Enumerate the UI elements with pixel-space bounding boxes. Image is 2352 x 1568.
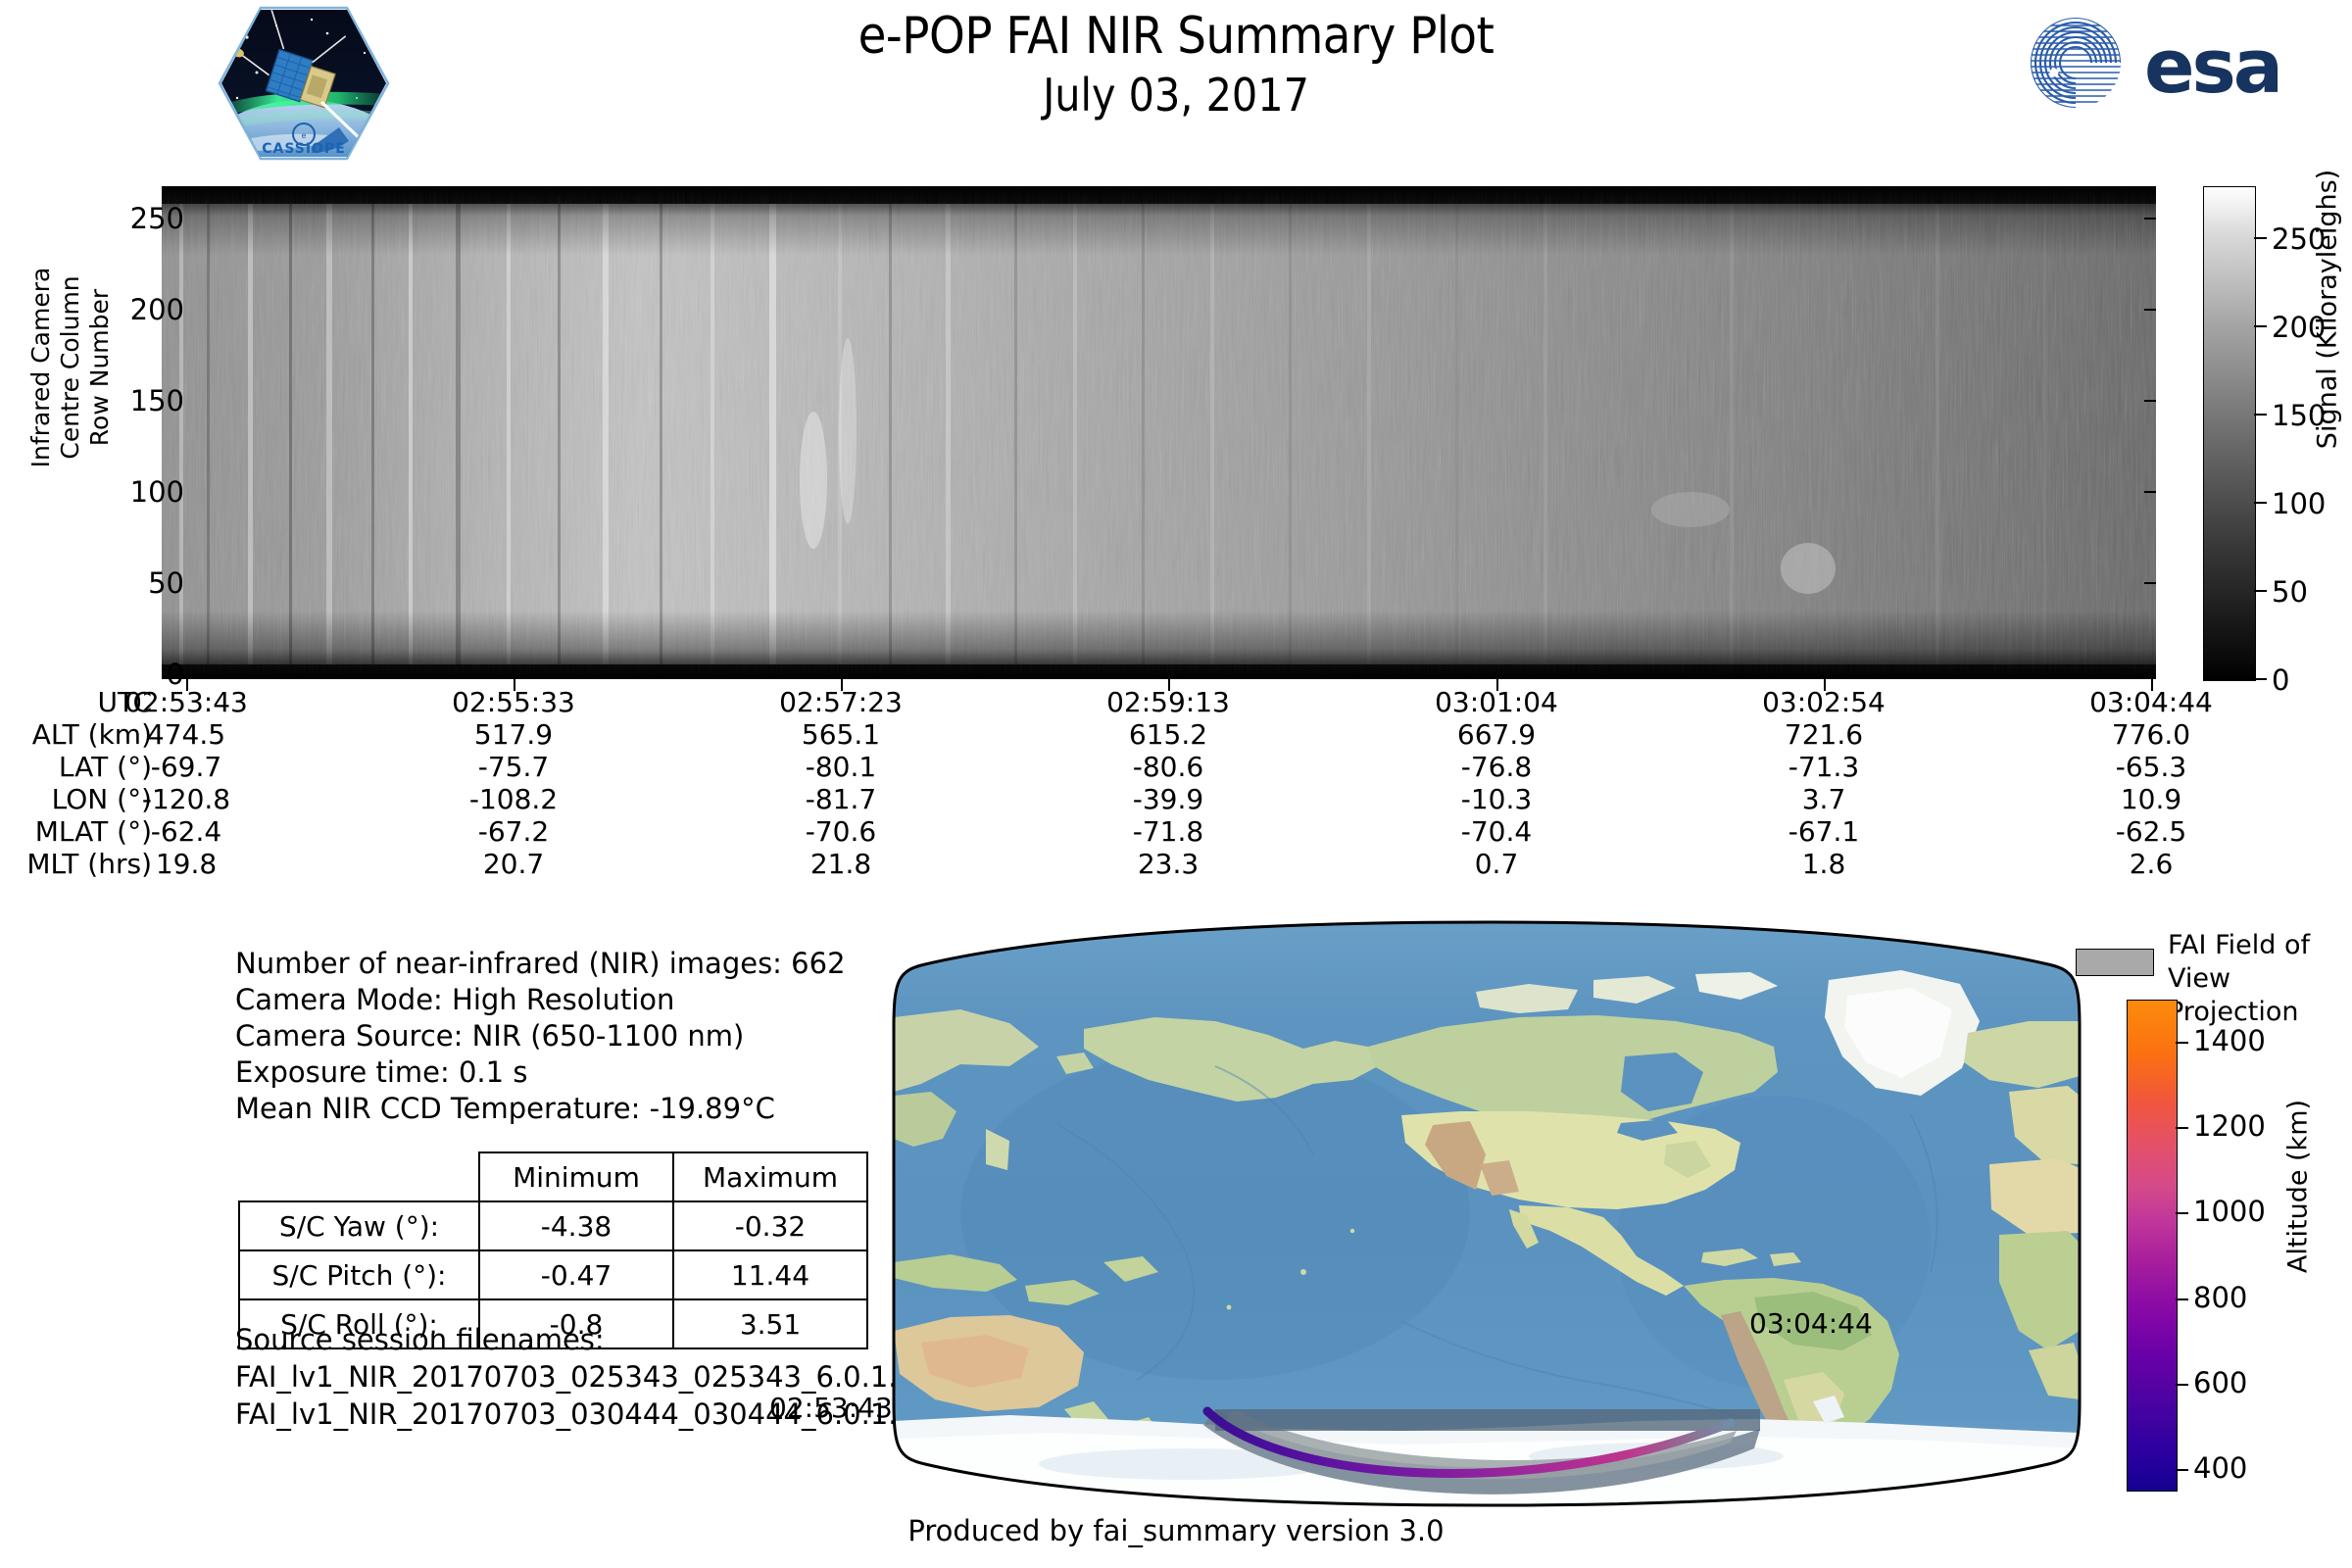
eph-mlt-5: 1.8 [1701,848,1946,880]
footer-text: Produced by fai_summary version 3.0 [0,1514,2352,1547]
eph-mlat-0: -62.4 [64,815,309,848]
attitude-header-maximum: Maximum [673,1152,867,1201]
y-tick-mark-100 [2144,491,2156,493]
signal-cb-tick-150 [2254,414,2267,416]
eph-utc-3: 02:59:13 [1046,686,1291,718]
eph-utc-4: 03:01:04 [1374,686,1619,718]
info-line-exposure: Exposure time: 0.1 s [235,1054,846,1091]
info-line-camera-mode: Camera Mode: High Resolution [235,982,846,1018]
signal-colorbar-title: Signal (Kilorayleighs) [2313,148,2343,471]
eph-mlat-3: -71.8 [1046,815,1291,848]
ephemeris-row-lon: LON (°) -120.8 -108.2 -81.7 -39.9 -10.3 … [0,783,2352,815]
files-heading: Source session filenames: [235,1321,971,1358]
eph-utc-5: 03:02:54 [1701,686,1946,718]
altitude-cb-tick-1000 [2176,1212,2188,1214]
track-start-time-label: 02:53:43 [769,1392,893,1424]
page-title: e-POP FAI NIR Summary Plot [0,6,2352,67]
attitude-row-label-yaw: S/C Yaw (°): [239,1201,479,1250]
signal-cb-tick-200 [2254,325,2267,327]
eph-mlat-2: -70.6 [718,815,963,848]
eph-lat-0: -69.7 [64,751,309,783]
y-tick-label-200: 200 [67,293,184,326]
page-subtitle-date: July 03, 2017 [0,67,2352,123]
signal-colorbar [2203,186,2256,681]
y-tick-mark-250 [2144,218,2156,220]
attitude-yaw-min: -4.38 [479,1201,673,1250]
keogram-image-panel [162,186,2156,679]
attitude-pitch-min: -0.47 [479,1250,673,1299]
eph-mlt-1: 20.7 [391,848,636,880]
y-tick-mark-0 [2144,672,2156,674]
info-line-camera-source: Camera Source: NIR (650-1100 nm) [235,1018,846,1054]
eph-mlt-2: 21.8 [718,848,963,880]
fov-legend-label: FAI Field of View Projection [2168,929,2352,1029]
eph-alt-0: 474.5 [64,718,309,751]
eph-mlat-5: -67.1 [1701,815,1946,848]
eph-lon-4: -10.3 [1374,783,1619,815]
eph-mlt-3: 23.3 [1046,848,1291,880]
altitude-cb-label-600: 600 [2193,1366,2247,1399]
eph-lat-4: -76.8 [1374,751,1619,783]
altitude-cb-label-1000: 1000 [2193,1195,2266,1228]
eph-lon-3: -39.9 [1046,783,1291,815]
fov-legend-swatch [2076,949,2154,976]
signal-cb-tick-100 [2254,502,2267,504]
y-tick-mark-150 [2144,400,2156,402]
info-line-num-images: Number of near-infrared (NIR) images: 66… [235,946,846,982]
y-tick-label-150: 150 [67,384,184,417]
orbit-track-world-map: 02:53:43 03:04:44 [892,919,2082,1507]
y-tick-mark-200 [2144,309,2156,311]
title-block: e-POP FAI NIR Summary Plot July 03, 2017 [0,6,2352,123]
altitude-cb-label-400: 400 [2193,1451,2247,1485]
table-row: S/C Yaw (°): -4.38 -0.32 [239,1201,867,1250]
table-row: S/C Pitch (°): -0.47 11.44 [239,1250,867,1299]
ylabel-line-1: Infrared Camera [26,181,56,554]
ephemeris-row-lat: LAT (°) -69.7 -75.7 -80.1 -80.6 -76.8 -7… [0,751,2352,783]
eph-alt-2: 565.1 [718,718,963,751]
ephemeris-row-alt: ALT (km) 474.5 517.9 565.1 615.2 667.9 7… [0,718,2352,751]
altitude-cb-tick-1200 [2176,1127,2188,1129]
fov-legend-line-2: View Projection [2168,962,2352,1029]
info-line-ccd-temp: Mean NIR CCD Temperature: -19.89°C [235,1091,846,1127]
table-header-row: Minimum Maximum [239,1152,867,1201]
eph-lat-1: -75.7 [391,751,636,783]
attitude-minmax-table: Minimum Maximum S/C Yaw (°): -4.38 -0.32… [238,1151,868,1349]
eph-lat-3: -80.6 [1046,751,1291,783]
eph-alt-4: 667.9 [1374,718,1619,751]
signal-cb-tick-50 [2254,590,2267,592]
eph-mlt-6: 2.6 [2029,848,2274,880]
altitude-cb-label-1400: 1400 [2193,1024,2266,1057]
y-tick-mark-50 [2144,582,2156,584]
eph-utc-6: 03:04:44 [2029,686,2274,718]
eph-utc-0: 02:53:43 [64,686,309,718]
eph-alt-6: 776.0 [2029,718,2274,751]
y-tick-label-100: 100 [67,475,184,509]
eph-mlat-1: -67.2 [391,815,636,848]
signal-cb-tick-250 [2254,237,2267,239]
eph-alt-3: 615.2 [1046,718,1291,751]
signal-cb-tick-0 [2254,678,2267,680]
eph-mlat-6: -62.5 [2029,815,2274,848]
eph-lon-6: 10.9 [2029,783,2274,815]
y-tick-label-50: 50 [67,566,184,600]
track-end-time-label: 03:04:44 [1749,1307,1873,1340]
signal-cb-label-50: 50 [2272,575,2308,609]
ephemeris-row-mlat: MLAT (°) -62.4 -67.2 -70.6 -71.8 -70.4 -… [0,815,2352,848]
altitude-colorbar [2127,1000,2178,1492]
attitude-pitch-max: 11.44 [673,1250,867,1299]
ephemeris-row-utc: UTC 02:53:43 02:55:33 02:57:23 02:59:13 … [0,686,2352,718]
altitude-cb-tick-1400 [2176,1042,2188,1044]
eph-alt-5: 721.6 [1701,718,1946,751]
attitude-header-minimum: Minimum [479,1152,673,1201]
svg-text:CASSIOPE: CASSIOPE [262,141,346,157]
eph-lon-2: -81.7 [718,783,963,815]
ephemeris-row-mlt: MLT (hrs) 19.8 20.7 21.8 23.3 0.7 1.8 2.… [0,848,2352,880]
eph-lat-2: -80.1 [718,751,963,783]
eph-mlat-4: -70.4 [1374,815,1619,848]
eph-mlt-0: 19.8 [64,848,309,880]
attitude-yaw-max: -0.32 [673,1201,867,1250]
eph-alt-1: 517.9 [391,718,636,751]
eph-lat-5: -71.3 [1701,751,1946,783]
eph-utc-1: 02:55:33 [391,686,636,718]
eph-mlt-4: 0.7 [1374,848,1619,880]
y-tick-label-250: 250 [67,202,184,235]
altitude-cb-tick-400 [2176,1469,2188,1471]
svg-text:e: e [302,131,307,140]
altitude-cb-label-800: 800 [2193,1281,2247,1314]
attitude-header-blank [239,1152,479,1201]
session-info-block: Number of near-infrared (NIR) images: 66… [235,946,846,1127]
altitude-cb-label-1200: 1200 [2193,1109,2266,1143]
files-line-1: FAI_lv1_NIR_20170703_025343_025343_6.0.1… [235,1358,971,1396]
altitude-cb-tick-800 [2176,1298,2188,1300]
ephemeris-table: UTC 02:53:43 02:55:33 02:57:23 02:59:13 … [0,686,2352,880]
eph-lon-0: -120.8 [64,783,309,815]
eph-lon-1: -108.2 [391,783,636,815]
altitude-cb-tick-600 [2176,1384,2188,1386]
eph-utc-2: 02:57:23 [718,686,963,718]
altitude-colorbar-title: Altitude (km) [2283,1025,2314,1348]
fov-legend-line-1: FAI Field of [2168,929,2352,962]
signal-cb-label-100: 100 [2272,487,2326,520]
eph-lat-6: -65.3 [2029,751,2274,783]
attitude-row-label-pitch: S/C Pitch (°): [239,1250,479,1299]
eph-lon-5: 3.7 [1701,783,1946,815]
